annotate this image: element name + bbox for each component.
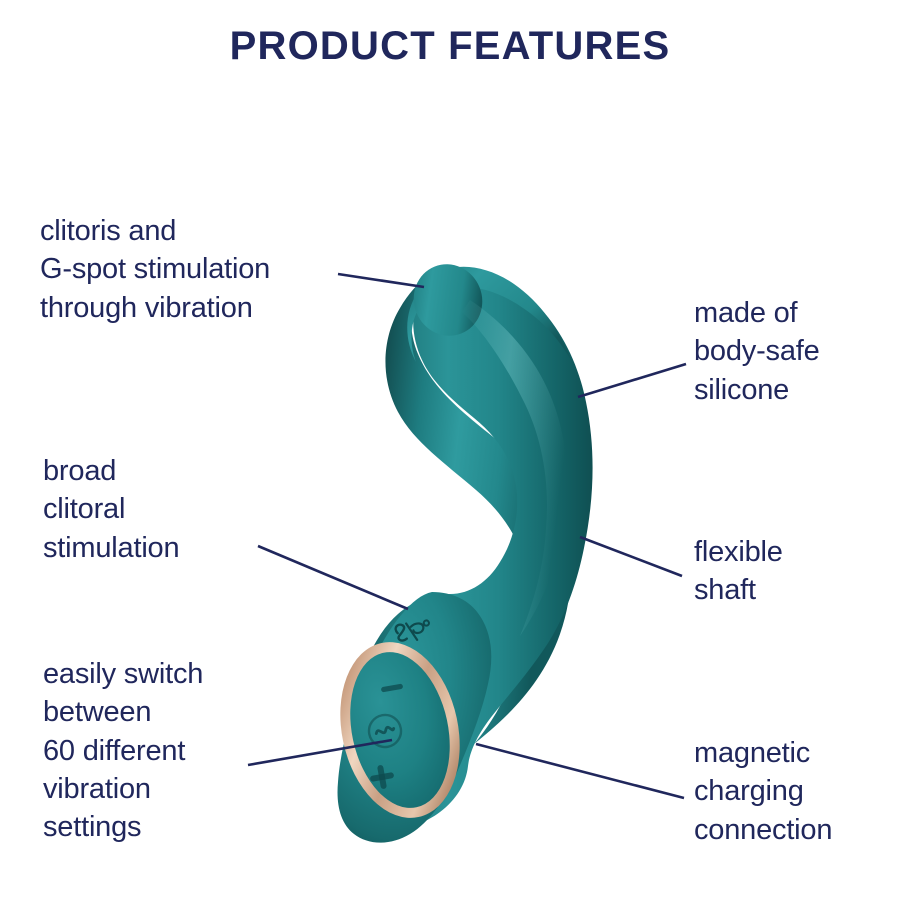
feature-label-flexible-shaft: flexible shaft (694, 533, 894, 610)
leader-magnetic-charging (476, 744, 684, 798)
feature-label-vibration-settings: easily switch between 60 different vibra… (43, 655, 303, 846)
product-features-page: PRODUCT FEATURES (0, 0, 900, 900)
feature-label-magnetic-charging: magnetic charging connection (694, 734, 899, 849)
feature-label-clitoris-gspot: clitoris and G-spot stimulation through … (40, 212, 370, 327)
leader-flexible-shaft (580, 537, 682, 576)
feature-label-broad-clitoral: broad clitoral stimulation (43, 452, 293, 567)
feature-label-body-safe: made of body-safe silicone (694, 294, 894, 409)
leader-body-safe (578, 364, 686, 397)
